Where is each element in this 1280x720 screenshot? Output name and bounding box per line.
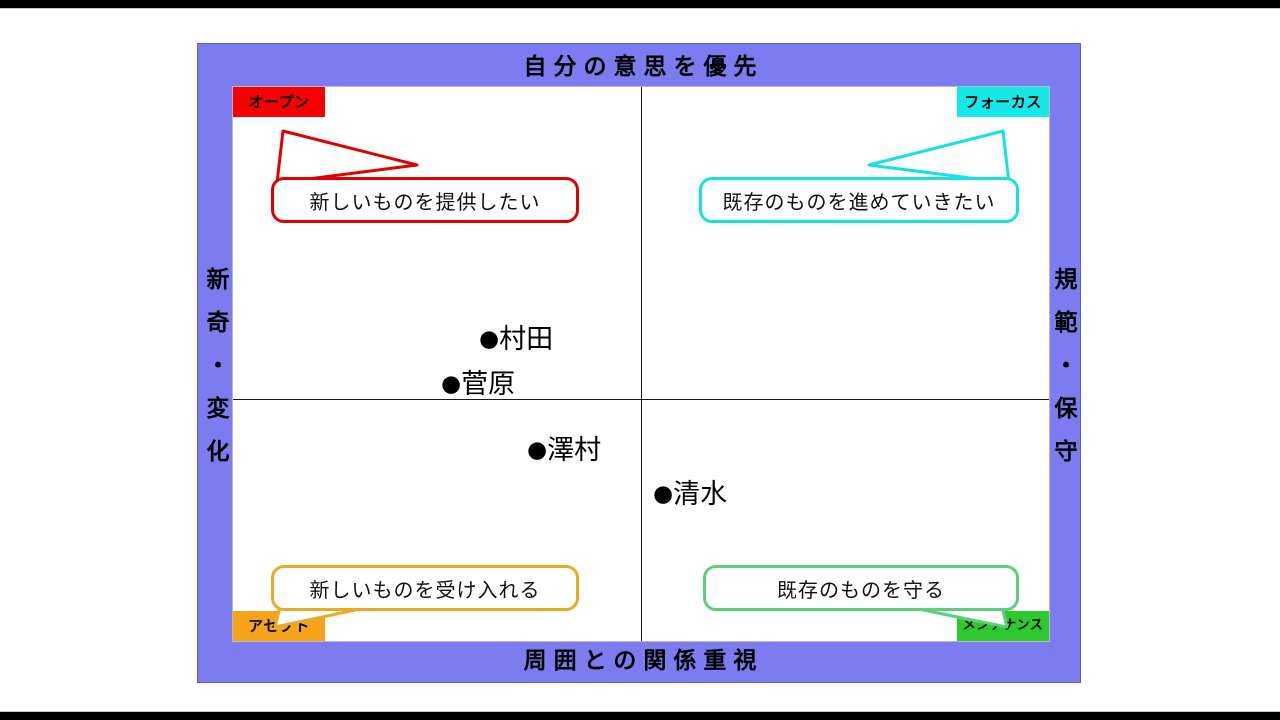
axis-label-right-text: 規範・保守 (1046, 247, 1080, 482)
axis-label-left: 新奇・変化 (198, 86, 232, 642)
data-point-shimizu[interactable]: ●清水 (653, 472, 727, 511)
slide-canvas: 自分の意思を優先 周囲との関係重視 新奇・変化 規範・保守 オープン フォーカス… (0, 8, 1280, 712)
data-point-sugawara[interactable]: ●菅原 (441, 362, 515, 401)
point-marker-icon: ● (479, 326, 499, 352)
callout-open: 新しいものを提供したい (271, 177, 579, 223)
axis-horizontal-divider (233, 399, 1049, 400)
point-label: 澤村 (547, 435, 601, 466)
quadrant-frame: 自分の意思を優先 周囲との関係重視 新奇・変化 規範・保守 オープン フォーカス… (197, 43, 1081, 683)
axis-label-bottom: 周囲との関係重視 (198, 642, 1082, 680)
callout-maintenance: 既存のものを守る (703, 565, 1019, 611)
axis-label-right: 規範・保守 (1046, 86, 1080, 642)
point-label: 村田 (499, 324, 553, 355)
callout-accept: 新しいものを受け入れる (271, 565, 579, 611)
point-marker-icon: ● (441, 371, 461, 397)
axis-label-left-text: 新奇・変化 (198, 247, 232, 482)
data-point-murata[interactable]: ●村田 (479, 317, 553, 356)
point-marker-icon: ● (527, 437, 547, 463)
point-marker-icon: ● (653, 481, 673, 507)
point-label: 清水 (673, 479, 727, 510)
axis-vertical-divider (641, 87, 642, 641)
point-label: 菅原 (461, 369, 515, 400)
data-point-sawamura[interactable]: ●澤村 (527, 428, 601, 467)
axis-label-top: 自分の意思を優先 (198, 48, 1082, 86)
plot-area: オープン フォーカス アセプト メンテナンス 新しいものを (232, 86, 1050, 642)
slide-letterbox: 自分の意思を優先 周囲との関係重視 新奇・変化 規範・保守 オープン フォーカス… (0, 0, 1280, 720)
callout-focus: 既存のものを進めていきたい (699, 177, 1019, 223)
